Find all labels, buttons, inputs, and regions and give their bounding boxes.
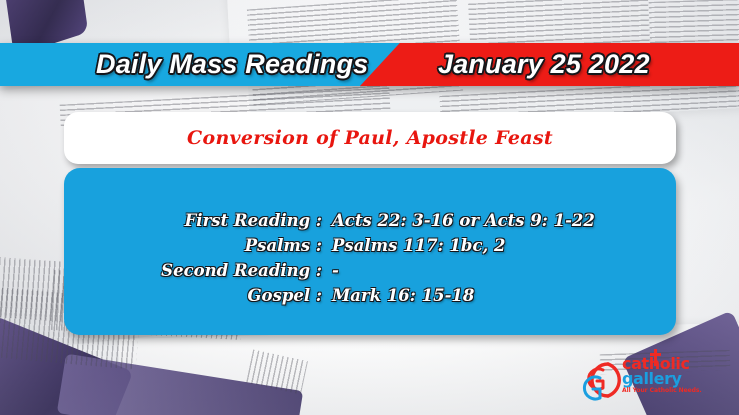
gospel-value: Mark 16: 15-18 bbox=[332, 286, 474, 305]
daily-mass-readings-graphic: Daily Mass Readings January 25 2022 Conv… bbox=[0, 0, 739, 415]
first-reading-value: Acts 22: 3-16 or Acts 9: 1-22 bbox=[332, 211, 595, 230]
logo-word-gallery: gallery bbox=[622, 371, 706, 386]
logo-word-catholic: catholic bbox=[622, 356, 706, 371]
feast-title-card: Conversion of Paul, Apostle Feast bbox=[64, 112, 676, 164]
cg-monogram-icon bbox=[578, 358, 624, 402]
second-reading-value: - bbox=[332, 261, 339, 280]
gospel-label: Gospel : bbox=[64, 286, 332, 305]
feast-title: Conversion of Paul, Apostle Feast bbox=[187, 127, 553, 149]
header-banner: Daily Mass Readings January 25 2022 bbox=[0, 43, 739, 86]
cross-icon bbox=[654, 349, 657, 366]
second-reading-label: Second Reading : bbox=[64, 261, 332, 280]
catholic-gallery-logo[interactable]: catholic gallery All Your Catholic Needs… bbox=[578, 356, 704, 404]
banner-date: January 25 2022 bbox=[438, 43, 650, 86]
reading-row-first: First Reading : Acts 22: 3-16 or Acts 9:… bbox=[64, 211, 676, 230]
psalms-label: Psalms : bbox=[64, 236, 332, 255]
reading-row-second: Second Reading : - bbox=[64, 261, 676, 280]
banner-title: Daily Mass Readings bbox=[96, 43, 368, 86]
reading-row-psalms: Psalms : Psalms 117: 1bc, 2 bbox=[64, 236, 676, 255]
logo-wordmark: catholic gallery All Your Catholic Needs… bbox=[622, 356, 706, 394]
readings-card: First Reading : Acts 22: 3-16 or Acts 9:… bbox=[64, 168, 676, 335]
first-reading-label: First Reading : bbox=[64, 211, 332, 230]
logo-tagline: All Your Catholic Needs. bbox=[622, 387, 706, 394]
psalms-value: Psalms 117: 1bc, 2 bbox=[332, 236, 505, 255]
reading-row-gospel: Gospel : Mark 16: 15-18 bbox=[64, 286, 676, 305]
